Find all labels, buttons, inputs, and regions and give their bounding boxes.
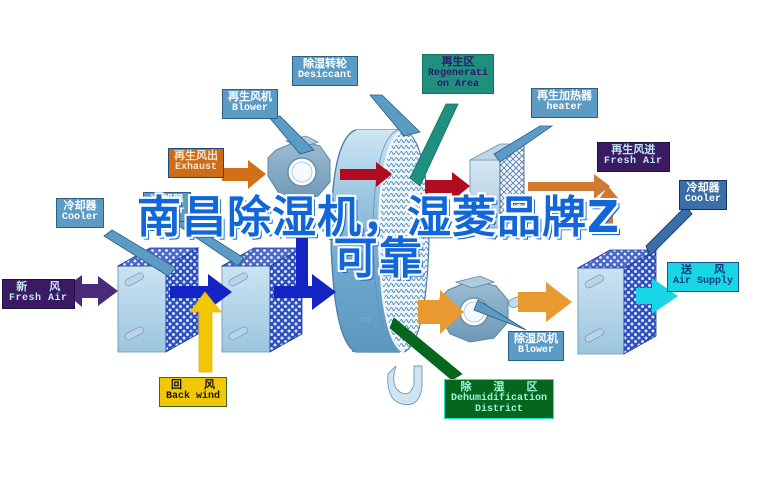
label-regen-fresh-air-in[interactable]: 再生风进 Fresh Air — [597, 142, 670, 172]
regen-riser-arrow — [600, 186, 618, 232]
svg-text:xn: xn — [360, 314, 370, 324]
regen-intake-arrow — [528, 174, 610, 199]
label-fresh-air-in-en: Fresh Air — [9, 294, 68, 305]
label-cooler-right-en: Cooler — [685, 195, 721, 206]
label-fresh-air-in[interactable]: 新 风 Fresh Air — [2, 279, 75, 309]
label-back-wind-en: Back wind — [166, 392, 220, 403]
label-regen-blower[interactable]: 再生风机 Blower — [222, 89, 278, 119]
label-regen-blower-en: Blower — [228, 104, 272, 115]
label-regen-fresh-air-in-en: Fresh Air — [604, 157, 663, 168]
rotor-drain — [388, 366, 422, 405]
label-cooler-right[interactable]: 冷却器 Cooler — [679, 180, 727, 210]
label-cooler-left-2-en: Cooler — [149, 207, 185, 218]
label-cooler-left-2[interactable]: 冷却器 Cooler — [143, 192, 191, 222]
label-regeneration-area-en-2: on Area — [428, 80, 488, 91]
blower-out-arrow — [518, 282, 572, 322]
label-regen-exhaust[interactable]: 再生风出 Exhaust — [168, 148, 224, 178]
label-dehum-blower-en: Blower — [514, 346, 558, 357]
label-cooler-left-1-en: Cooler — [62, 213, 98, 224]
diagram-graphics: xn — [0, 0, 757, 488]
exhaust-arrow — [222, 160, 266, 189]
desiccant-wheel: xn — [331, 130, 429, 352]
label-back-wind[interactable]: 回 风 Back wind — [159, 377, 227, 407]
label-regeneration-area[interactable]: 再生区 Regenerati on Area — [422, 54, 494, 94]
dehumidifier-diagram: xn — [0, 0, 757, 488]
label-dehumidification-district-en-2: District — [451, 405, 547, 416]
label-dehumidification-district[interactable]: 除 湿 区 Dehumidification District — [444, 379, 554, 419]
label-regen-heater-en: heater — [537, 103, 592, 114]
dehum-down-arrow — [296, 236, 308, 286]
label-regen-exhaust-en: Exhaust — [174, 163, 218, 174]
label-desiccant-rotor[interactable]: 除湿转轮 Desiccant — [292, 56, 358, 86]
label-air-supply-en: Air Supply — [673, 277, 733, 288]
label-air-supply[interactable]: 送 风 Air Supply — [667, 262, 739, 292]
label-dehum-blower[interactable]: 除湿风机 Blower — [508, 331, 564, 361]
regen-hot-arrow-2 — [425, 172, 470, 201]
label-regen-heater[interactable]: 再生加热器 heater — [531, 88, 598, 118]
label-desiccant-rotor-en: Desiccant — [298, 71, 352, 82]
label-cooler-left-1[interactable]: 冷却器 Cooler — [56, 198, 104, 228]
